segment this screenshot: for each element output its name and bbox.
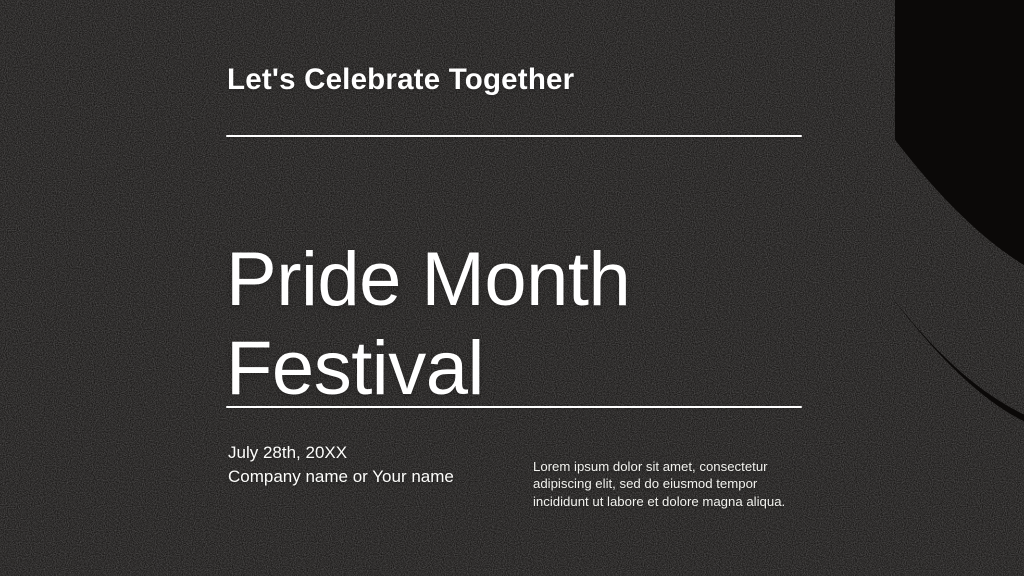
poster-canvas: Let's Celebrate Together Pride Month Fes… bbox=[0, 0, 1024, 576]
divider-top bbox=[226, 135, 802, 137]
event-meta: July 28th, 20XX Company name or Your nam… bbox=[228, 441, 490, 488]
page-title-line-1: Pride Month bbox=[226, 235, 826, 324]
page-title-line-2: Festival bbox=[226, 324, 826, 413]
event-description: Lorem ipsum dolor sit amet, consectetur … bbox=[533, 458, 799, 510]
divider-bottom bbox=[226, 406, 802, 408]
page-title: Pride Month Festival bbox=[226, 235, 826, 413]
eyebrow-heading: Let's Celebrate Together bbox=[227, 63, 574, 97]
event-date: July 28th, 20XX bbox=[228, 441, 490, 465]
event-organizer: Company name or Your name bbox=[228, 465, 490, 489]
